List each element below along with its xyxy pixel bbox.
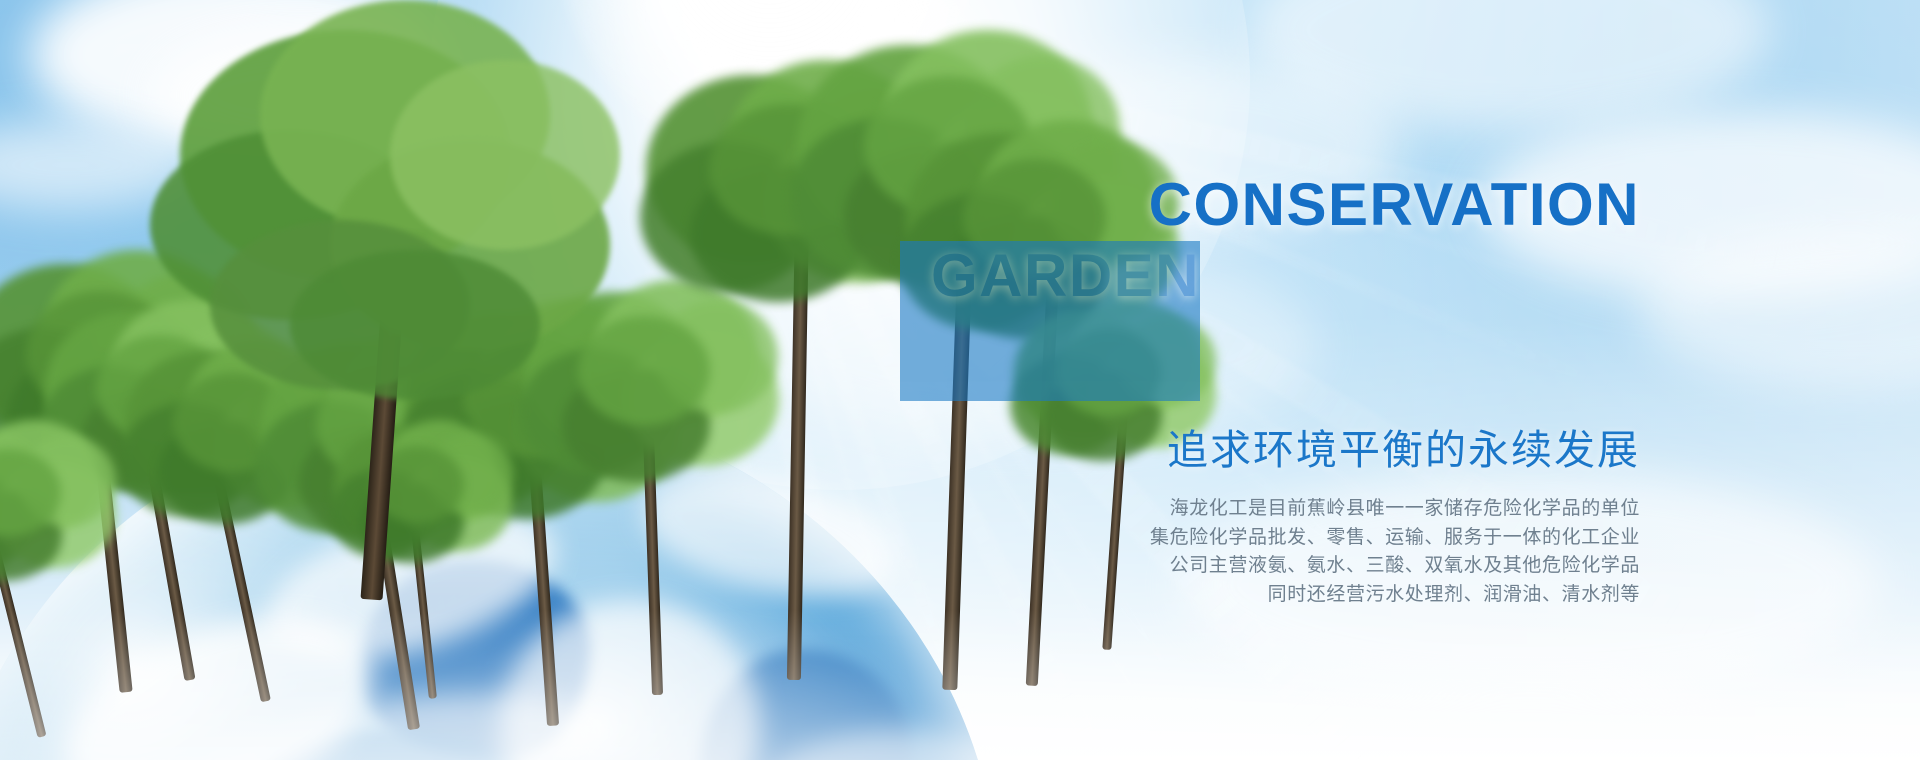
tree	[0, 420, 120, 760]
page-title: CONSERVATION GARDEN	[900, 170, 1640, 401]
banner-copy: CONSERVATION GARDEN 追求环境平衡的永续发展 海龙化工是目前蕉…	[900, 170, 1640, 608]
banner-description: 海龙化工是目前蕉岭县唯一一家储存危险化学品的单位集危险化学品批发、零售、运输、服…	[900, 494, 1640, 608]
headline-line-2: GARDEN	[900, 241, 1200, 401]
description-line: 同时还经营污水处理剂、润滑油、清水剂等	[900, 580, 1640, 609]
tree-canopy	[290, 250, 540, 400]
description-line: 公司主营液氨、氨水、三酸、双氧水及其他危险化学品	[900, 551, 1640, 580]
banner-subtitle: 追求环境平衡的永续发展	[900, 425, 1640, 476]
headline-line-1: CONSERVATION	[1149, 171, 1640, 238]
description-line: 集危险化学品批发、零售、运输、服务于一体的化工企业	[900, 523, 1640, 552]
description-line: 海龙化工是目前蕉岭县唯一一家储存危险化学品的单位	[900, 494, 1640, 523]
hero-banner: CONSERVATION GARDEN 追求环境平衡的永续发展 海龙化工是目前蕉…	[0, 0, 1920, 760]
hero-tree	[150, 20, 630, 620]
tree-canopy	[390, 60, 620, 250]
